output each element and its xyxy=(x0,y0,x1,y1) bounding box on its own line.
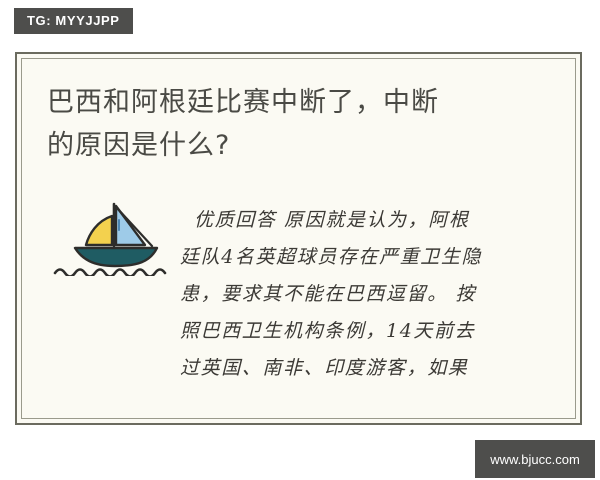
sailboat-icon xyxy=(53,196,177,276)
water-wave-line xyxy=(55,270,165,277)
answer-line-1: 优质回答 原因就是认为，阿根 xyxy=(180,202,540,239)
answer-text: 优质回答 原因就是认为，阿根 廷队4名英超球员存在严重卫生隐 患，要求其不能在巴… xyxy=(180,202,540,387)
site-watermark: www.bjucc.com xyxy=(475,440,595,478)
answer-line-4: 照巴西卫生机构条例，14天前去 xyxy=(180,313,540,350)
left-sail-shape xyxy=(86,216,112,245)
question-title-line-2: 的原因是什么? xyxy=(47,124,547,167)
answer-line-2: 廷队4名英超球员存在严重卫生隐 xyxy=(180,239,540,276)
hull-shape xyxy=(75,248,157,266)
question-title-line-1: 巴西和阿根廷比赛中断了，中断 xyxy=(47,81,547,124)
question-card: 巴西和阿根廷比赛中断了，中断 的原因是什么? xyxy=(15,52,582,425)
tg-channel-badge: TG: MYYJJPP xyxy=(14,8,133,34)
page-title: 巴西和阿根廷比赛中断了，中断 的原因是什么? xyxy=(47,81,547,167)
answer-line-3: 患，要求其不能在巴西逗留。 按 xyxy=(180,276,540,313)
sailboat-svg xyxy=(53,196,177,276)
card-content: 巴西和阿根廷比赛中断了，中断 的原因是什么? xyxy=(17,54,580,423)
answer-line-5: 过英国、南非、印度游客，如果 xyxy=(180,350,540,387)
